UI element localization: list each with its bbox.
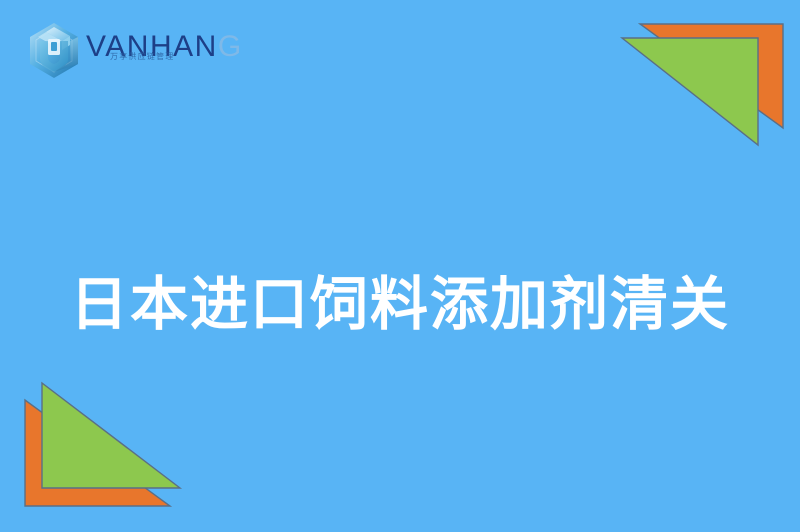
bottom-left-green-triangle-icon (42, 383, 180, 488)
logo-subtitle: 万享供应链管理 (110, 52, 174, 62)
top-right-green-triangle-icon (622, 38, 758, 145)
brand-logo[interactable]: VANHANG 万享供应链管理 (26, 20, 243, 80)
bottom-left-orange-triangle-icon (25, 400, 170, 506)
logo-text-block: VANHANG 万享供应链管理 (86, 27, 243, 73)
page-title: 日本进口饲料添加剂清关 (0, 267, 800, 341)
slide-canvas: VANHANG 万享供应链管理 日本进口饲料添加剂清关 (0, 0, 800, 532)
top-right-orange-triangle-icon (640, 24, 783, 128)
logo-wordmark-tail: G (218, 30, 243, 63)
vanhang-cube-logo-icon (26, 21, 82, 79)
